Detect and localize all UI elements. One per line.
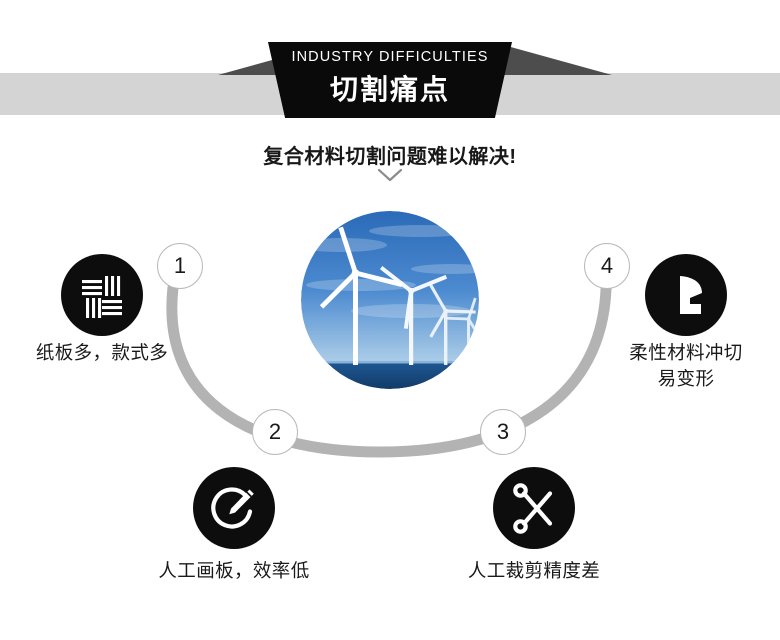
banner-wing-right <box>500 44 612 75</box>
step-number-1[interactable]: 1 <box>157 243 203 289</box>
banner-eyebrow: INDUSTRY DIFFICULTIES <box>268 50 512 65</box>
subtitle: 复合材料切割问题难以解决! <box>0 140 780 169</box>
step-caption-3: 人工裁剪精度差 <box>434 558 634 584</box>
step-number-3[interactable]: 3 <box>480 409 526 455</box>
folded-material-icon[interactable] <box>645 254 727 336</box>
center-photo <box>301 211 479 389</box>
step-caption-2: 人工画板，效率低 <box>134 558 334 584</box>
step-caption-1: 纸板多，款式多 <box>2 340 202 366</box>
chevron-down-icon <box>0 168 780 185</box>
step-number-2[interactable]: 2 <box>252 409 298 455</box>
scissors-icon[interactable] <box>493 467 575 549</box>
page-banner: INDUSTRY DIFFICULTIES 切割痛点 <box>0 0 780 130</box>
step-caption-4: 柔性材料冲切 易变形 <box>586 340 780 393</box>
woven-layers-icon[interactable] <box>61 254 143 336</box>
banner-plate: INDUSTRY DIFFICULTIES 切割痛点 <box>268 42 512 118</box>
pencil-edit-icon[interactable] <box>193 467 275 549</box>
step-number-4[interactable]: 4 <box>584 243 630 289</box>
page-title: 切割痛点 <box>268 76 512 104</box>
